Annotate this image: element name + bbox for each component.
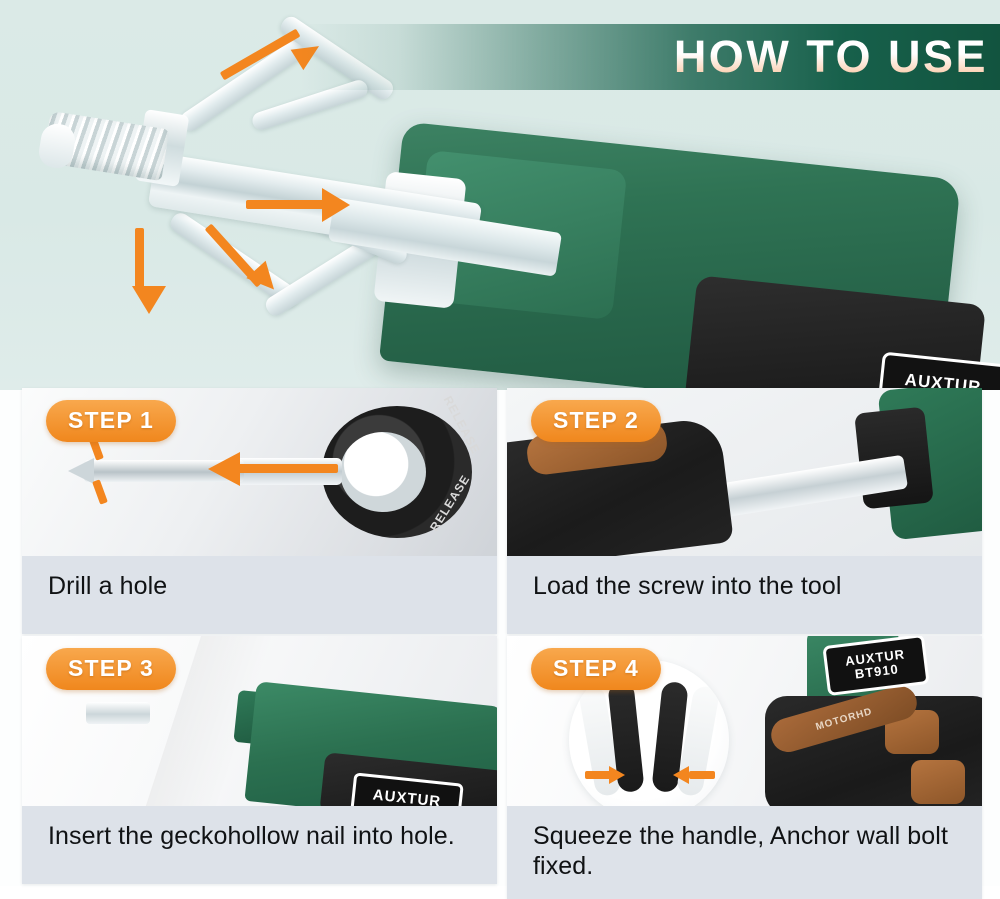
step-2-badge: STEP 2: [531, 400, 661, 442]
step-3-photo: AUXTUR STEP 3: [22, 636, 497, 806]
step-3-caption-text: Insert the geckohollow nail into hole.: [48, 822, 471, 852]
step-3-caption: Insert the geckohollow nail into hole.: [22, 806, 497, 884]
step-1-photo: RELEASE RELEASE STEP 1: [22, 388, 497, 556]
step-panel-2[interactable]: STEP 2 Load the screw into the tool: [507, 388, 982, 634]
step-panel-4[interactable]: MOTORHD AUXTUR BT910 STEP 4 Squeeze the …: [507, 636, 982, 899]
step-4-tool-model: BT910: [854, 662, 899, 681]
hero-arrow-down-right-icon: [208, 216, 318, 302]
step-4-caption: Squeeze the handle, Anchor wall bolt fix…: [507, 806, 982, 899]
step-2-caption: Load the screw into the tool: [507, 556, 982, 634]
step-panel-3[interactable]: AUXTUR STEP 3 Insert the geckohollow nai…: [22, 636, 497, 884]
step-1-badge: STEP 1: [46, 400, 176, 442]
hero-image: AUXTUR HOW TO USE: [0, 0, 1000, 390]
step-4-arrow-right-icon: [585, 766, 631, 786]
step-2-caption-text: Load the screw into the tool: [533, 572, 956, 602]
step-4-glove-pad-2: [911, 760, 965, 804]
hero-brand-badge: AUXTUR: [878, 352, 1000, 390]
drill-chuck-ring: [340, 432, 426, 512]
hero-arrow-down-icon: [132, 228, 166, 314]
step-panel-1[interactable]: RELEASE RELEASE STEP 1 Drill a hole: [22, 388, 497, 634]
step-3-badge: STEP 3: [46, 648, 176, 690]
step-1-caption: Drill a hole: [22, 556, 497, 634]
step-3-anchor-nail: [86, 702, 150, 724]
step-2-photo: STEP 2: [507, 388, 982, 556]
step-1-arrow-left-icon: [208, 452, 348, 486]
how-to-use-infographic: AUXTUR HOW TO USE: [0, 0, 1000, 886]
step-1-caption-text: Drill a hole: [48, 572, 471, 602]
page-title: HOW TO USE: [674, 28, 988, 86]
step-1-rotation-arrow-icon: [84, 438, 124, 508]
step-4-arrow-left-icon: [671, 766, 717, 786]
step-4-caption-text: Squeeze the handle, Anchor wall bolt fix…: [533, 822, 956, 881]
step-4-badge: STEP 4: [531, 648, 661, 690]
steps-grid: RELEASE RELEASE STEP 1 Drill a hole: [22, 388, 985, 868]
step-4-photo: MOTORHD AUXTUR BT910 STEP 4: [507, 636, 982, 806]
